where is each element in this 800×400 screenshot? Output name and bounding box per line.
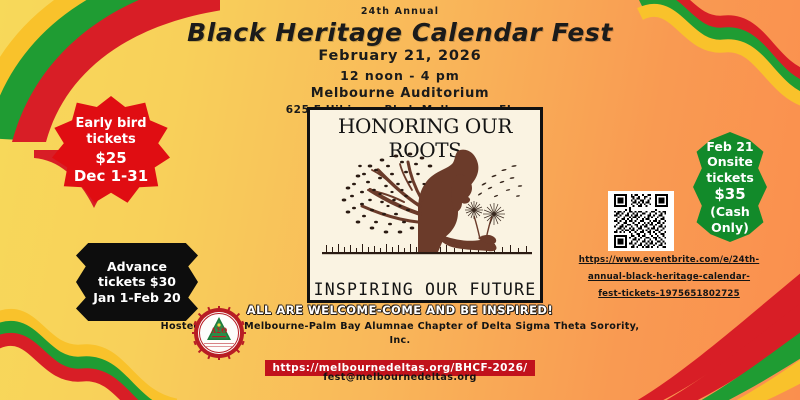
onsite-line3: tickets <box>706 170 754 186</box>
early-bird-dates: Dec 1-31 <box>74 167 148 186</box>
event-flyer: 24th Annual Black Heritage Calendar Fest… <box>0 0 800 400</box>
early-bird-line2: tickets <box>86 132 135 148</box>
annual-label: 24th Annual <box>0 6 800 17</box>
onsite-ticket-badge: Feb 21 Onsite tickets $35 (Cash Only) <box>686 132 774 242</box>
onsite-price: $35 <box>714 185 745 204</box>
advance-line1: Advance <box>107 259 167 275</box>
qr-code-icon[interactable] <box>608 191 674 251</box>
welcome-message: ALL ARE WELCOME-COME AND BE INSPIRED! <box>0 303 800 317</box>
early-bird-line1: Early bird <box>76 116 147 132</box>
onsite-line1: Feb 21 <box>706 139 753 155</box>
page-title: Black Heritage Calendar Fest <box>0 18 800 47</box>
onsite-line6: Only) <box>711 220 749 236</box>
woman-silhouette-tree-hair-dandelion-icon <box>318 140 536 268</box>
svg-text:ΔΣΘ: ΔΣΘ <box>211 326 227 335</box>
onsite-line2: Onsite <box>707 154 753 170</box>
advance-line2: tickets $30 <box>98 274 176 290</box>
delta-sigma-theta-seal: ΔΣΘ <box>192 306 246 360</box>
eventbrite-url-line3: fest-tickets-1975651802725 <box>540 286 798 303</box>
event-venue: Melbourne Auditorium <box>0 86 800 101</box>
onsite-line5: (Cash <box>710 204 750 220</box>
contact-email[interactable]: fest@melbournedeltas.org <box>0 372 800 383</box>
eventbrite-url-line1: https://www.eventbrite.com/e/24th- <box>540 252 798 269</box>
poster-artwork-panel: HONORING OUR ROOTS <box>307 107 543 303</box>
event-date: February 21, 2026 <box>0 48 800 64</box>
early-bird-price: $25 <box>95 149 126 168</box>
eventbrite-ticket-link[interactable]: https://www.eventbrite.com/e/24th- annua… <box>540 252 798 302</box>
event-time: 12 noon - 4 pm <box>0 68 800 83</box>
eventbrite-url-line2: annual-black-heritage-calendar- <box>540 269 798 286</box>
poster-subline: INSPIRING OUR FUTURE <box>310 280 540 299</box>
